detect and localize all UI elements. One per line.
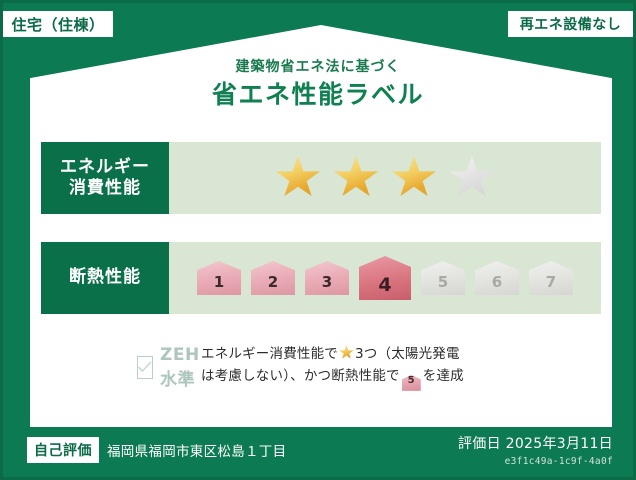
zeh-desc-part1: エネルギー消費性能で xyxy=(201,346,338,362)
insulation-level-2: 2 xyxy=(251,261,295,295)
insulation-level-3-value: 3 xyxy=(322,273,332,295)
insulation-level-4-selected: 4 xyxy=(359,256,411,300)
zeh-desc-part3: を達成 xyxy=(423,368,464,384)
footer-left-group: 自己評価 福岡県福岡市東区松島１丁目 xyxy=(3,437,286,463)
energy-performance-label: 住宅（住棟） 再エネ設備なし 建築物省エネ法に基づく 省エネ性能ラベル エネルギ… xyxy=(0,0,636,480)
insulation-level-5: 5 xyxy=(421,261,465,295)
insulation-level-2-value: 2 xyxy=(268,273,278,295)
insulation-level-1-value: 1 xyxy=(214,273,224,295)
title-subtitle: 建築物省エネ法に基づく xyxy=(3,60,633,75)
inline-insulation-badge: 5 xyxy=(402,375,421,391)
zeh-description: エネルギー消費性能で3つ（太陽光発電 は考慮しない）、かつ断熱性能で5を達成 xyxy=(201,343,601,391)
zeh-label: ZEH水準 xyxy=(160,345,201,390)
star-icon-4 xyxy=(449,156,495,200)
energy-star-rating xyxy=(169,142,601,214)
renewable-equipment-tag: 再エネ設備なし xyxy=(508,11,633,37)
insulation-level-scale: 1 2 3 4 5 6 7 xyxy=(169,242,601,314)
footer-right-group: 評価日 2025年3月11日 e3f1c49a-1c9f-4a0f xyxy=(458,433,633,467)
energy-label-line1: エネルギー xyxy=(60,157,150,178)
star-icon-3 xyxy=(391,156,437,200)
insulation-level-7: 7 xyxy=(529,261,573,295)
zeh-standard-section: ZEH水準 エネルギー消費性能で3つ（太陽光発電 は考慮しない）、かつ断熱性能で… xyxy=(41,336,601,398)
inline-insulation-badge-value: 5 xyxy=(408,373,415,391)
energy-performance-label: エネルギー 消費性能 xyxy=(41,142,169,214)
property-address: 福岡県福岡市東区松島１丁目 xyxy=(107,440,286,460)
label-footer: 自己評価 福岡県福岡市東区松島１丁目 評価日 2025年3月11日 e3f1c4… xyxy=(3,423,633,477)
insulation-performance-label: 断熱性能 xyxy=(41,242,169,314)
housing-type-text: 住宅（住棟） xyxy=(11,14,104,35)
insulation-level-6-value: 6 xyxy=(492,273,502,295)
energy-performance-row: エネルギー 消費性能 xyxy=(41,142,601,214)
zeh-desc-star-count: 3つ（太陽光発電 xyxy=(355,346,460,362)
insulation-performance-row: 断熱性能 1 2 3 4 5 6 7 xyxy=(41,242,601,314)
insulation-level-6: 6 xyxy=(475,261,519,295)
zeh-mark: ZEH水準 xyxy=(41,345,201,390)
insulation-level-3: 3 xyxy=(305,261,349,295)
inline-star-icon xyxy=(339,345,354,360)
insulation-level-1: 1 xyxy=(197,261,241,295)
page-title: 省エネ性能ラベル xyxy=(3,81,633,109)
insulation-level-7-value: 7 xyxy=(546,273,556,295)
energy-label-line2: 消費性能 xyxy=(69,178,141,199)
star-icon-1 xyxy=(275,156,321,200)
label-identifier: e3f1c49a-1c9f-4a0f xyxy=(458,456,613,467)
self-evaluation-badge: 自己評価 xyxy=(27,437,99,463)
evaluation-date: 評価日 2025年3月11日 xyxy=(458,433,613,453)
insulation-label-text: 断熱性能 xyxy=(69,267,141,288)
insulation-level-5-value: 5 xyxy=(438,273,448,295)
insulation-level-4-value: 4 xyxy=(378,274,391,300)
check-box-icon xyxy=(137,356,153,379)
housing-type-tag: 住宅（住棟） xyxy=(3,11,113,37)
renewable-equipment-text: 再エネ設備なし xyxy=(520,14,622,34)
star-icon-2 xyxy=(333,156,379,200)
title-block: 建築物省エネ法に基づく 省エネ性能ラベル xyxy=(3,60,633,109)
zeh-desc-part2: は考慮しない）、かつ断熱性能で xyxy=(201,368,400,384)
